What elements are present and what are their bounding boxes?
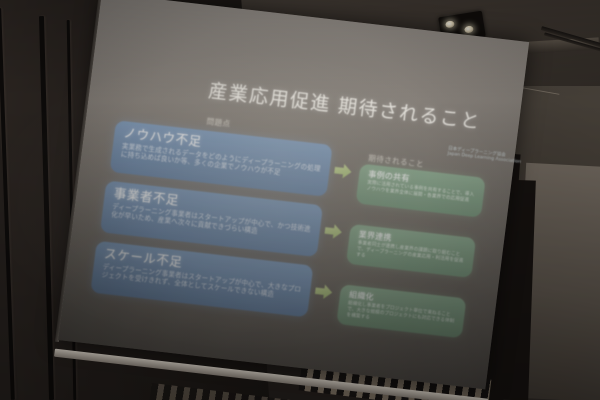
arrow-right-icon (334, 163, 353, 180)
expectation-box: 業界連携 事業者同士が連携し産業界の課題に取り組むことで、ディープラーニングの産… (346, 224, 476, 278)
spot-lamp-icon (464, 25, 474, 33)
photo-scene: 産業応用促進 期待されること 問題点 期待されること 日本ディープラーニング協会… (0, 0, 600, 400)
spot-lamp-icon (445, 20, 455, 28)
arrow-right-icon (314, 283, 333, 300)
logo-mark-icon (444, 145, 446, 158)
expectation-box: 組織化 組織化し事業者をプロジェクト単位で束ねることで、大きな規模のプロジェクト… (336, 284, 466, 338)
left-column-label: 問題点 (206, 116, 231, 130)
expectation-box: 事例の共有 実際に活用されている事例を共有することで、導入ノウハウを業界全体に展… (356, 164, 486, 218)
projection-screen: 産業応用促進 期待されること 問題点 期待されること 日本ディープラーニング協会… (57, 0, 529, 399)
screen-surface: 産業応用促進 期待されること 問題点 期待されること 日本ディープラーニング協会… (58, 0, 529, 389)
arrow-right-icon (324, 223, 343, 240)
slide-title: 産業応用促進 期待されること (207, 76, 483, 134)
jdla-logo: 日本ディープラーニング協会 Japan Deep Learning Associ… (444, 141, 498, 167)
